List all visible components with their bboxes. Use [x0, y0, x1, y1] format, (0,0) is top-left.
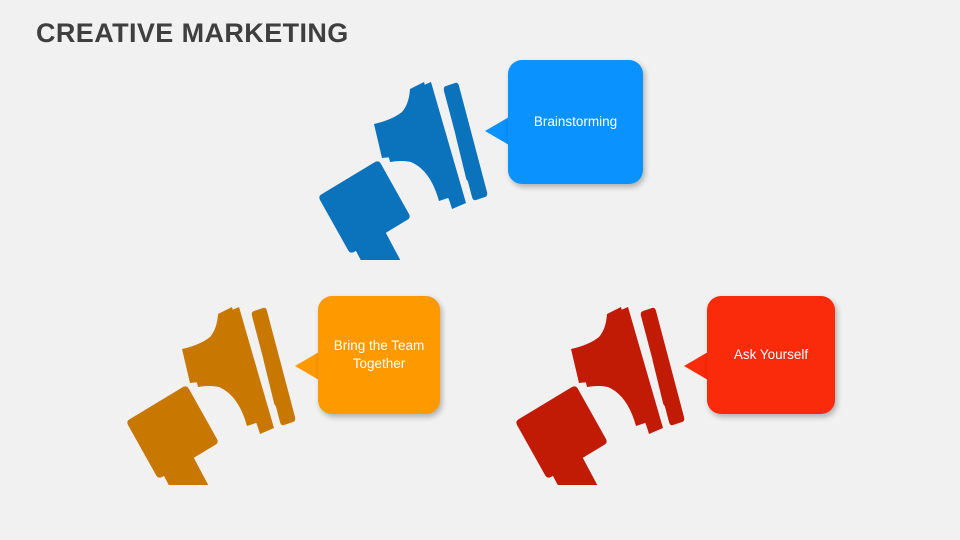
callout-tail-brainstorming: [485, 117, 509, 145]
callout-brainstorming[interactable]: Brainstorming: [508, 60, 643, 184]
megaphone-icon: [507, 305, 697, 485]
megaphone-icon: [310, 80, 500, 260]
callout-label-ask: Ask Yourself: [724, 346, 818, 364]
callout-label-team: Bring the Team Together: [324, 337, 435, 373]
callout-ask[interactable]: Ask Yourself: [707, 296, 835, 414]
callout-tail-team: [295, 352, 319, 380]
callout-tail-ask: [684, 352, 708, 380]
megaphone-icon: [118, 305, 308, 485]
callout-label-brainstorming: Brainstorming: [524, 113, 627, 131]
callout-team[interactable]: Bring the Team Together: [318, 296, 440, 414]
page-title: CREATIVE MARKETING: [36, 18, 349, 49]
slide-canvas: CREATIVE MARKETING Brainstorming: [0, 0, 960, 540]
